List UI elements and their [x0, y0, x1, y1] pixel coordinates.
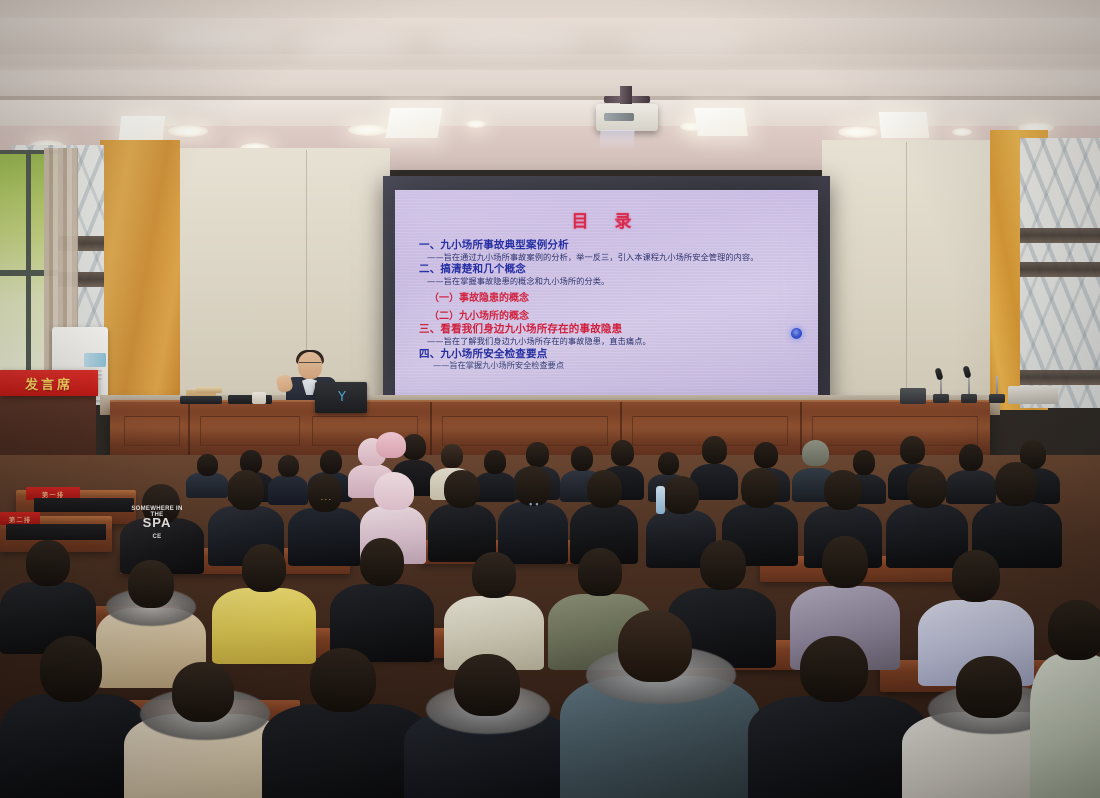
- slide-heading-1: 一、九小场所事故典型案例分析: [419, 240, 800, 252]
- audience-head: [454, 654, 520, 716]
- slide-heading-2: 二、搞清楚和几个概念: [419, 264, 800, 276]
- audience-member: [212, 544, 316, 662]
- audience-head: [472, 552, 516, 598]
- audience-head: [822, 536, 868, 588]
- downlight: [838, 126, 878, 138]
- audience-member: [428, 470, 496, 560]
- panel-light: [119, 116, 166, 140]
- marble-band: [1020, 228, 1100, 243]
- audience-member: [330, 538, 434, 660]
- row-sign-label: 第二排: [9, 514, 32, 524]
- desk-equipment: [1008, 386, 1058, 404]
- slide-title: 目 录: [413, 207, 800, 232]
- table-panel: [124, 416, 180, 446]
- table-seam: [188, 402, 190, 458]
- cursor-dot-icon: [791, 328, 802, 339]
- audience-head: [611, 440, 634, 466]
- audience-head: [907, 466, 947, 508]
- projector-icon: [596, 104, 658, 131]
- jacket-print-line3: CE: [128, 534, 186, 540]
- slide-paragraph-2: （二）九小场所的概念: [429, 307, 800, 322]
- audience-head: [754, 442, 778, 468]
- audience-member: [444, 552, 544, 668]
- marble-band: [1020, 370, 1100, 385]
- cap: [802, 440, 829, 466]
- ceiling-glare: [430, 30, 580, 56]
- downlight: [466, 120, 486, 128]
- projection-screen: 目 录 一、九小场所事故典型案例分析 ——旨在通过九小场所事故案例的分析，举一反…: [395, 190, 818, 395]
- ceiling-band-mid: [0, 70, 1100, 98]
- slide-subtext-3: ——旨在了解我们身边九小场所存在的事故隐患，直击痛点。: [427, 337, 800, 346]
- air-conditioner-display: [84, 353, 106, 367]
- audience-head: [658, 452, 679, 475]
- ceiling-glare: [290, 34, 410, 58]
- audience-head: [320, 450, 342, 474]
- jacket-print-decor: . . .: [298, 496, 354, 502]
- audience-head: [128, 560, 174, 608]
- audience-head: [700, 540, 746, 590]
- laptop-logo: Y: [336, 392, 348, 404]
- audience-head: [741, 468, 779, 508]
- audience-head: [444, 470, 480, 508]
- glasses-icon: [299, 362, 321, 367]
- slide-heading-3: 三、看看我们身边九小场所存在的事故隐患: [419, 324, 800, 336]
- audience-head: [995, 462, 1037, 506]
- wall-panel-seam: [906, 142, 907, 398]
- ceiling-soffit: [0, 100, 1100, 126]
- panel-light: [385, 108, 442, 138]
- audience-head: [702, 436, 727, 464]
- audience-head: [618, 610, 692, 682]
- audience-head: [172, 662, 234, 722]
- audience-member: [404, 654, 574, 798]
- microphone-base: [933, 394, 949, 403]
- ceiling-glare: [155, 28, 285, 54]
- slide-paragraph-1: （一）事故隐患的概念: [429, 289, 800, 304]
- panel-light: [694, 108, 748, 136]
- microphone-base: [961, 394, 977, 403]
- microphone-base: [989, 394, 1005, 403]
- downlight: [348, 124, 388, 136]
- desk-object: [252, 392, 266, 404]
- slide-heading-4: 四、九小场所安全检查要点: [419, 349, 800, 361]
- podium-banner-label: 发言席: [25, 374, 73, 393]
- desk-equipment: [900, 388, 926, 404]
- audience-head: [242, 544, 286, 592]
- audience-member: [0, 540, 96, 650]
- audience-head: [308, 474, 342, 512]
- bench-cushion: [34, 498, 134, 512]
- lecture-hall-photo: 目 录 一、九小场所事故典型案例分析 ——旨在通过九小场所事故案例的分析，举一反…: [0, 0, 1100, 798]
- audience-head: [40, 636, 102, 702]
- jacket-print-line2: SPA: [128, 516, 186, 530]
- podium-banner: 发言席: [0, 370, 98, 396]
- audience-member: [560, 610, 760, 798]
- audience-head: [952, 550, 1000, 602]
- window-mullion: [26, 150, 31, 400]
- audience-head: [228, 470, 264, 510]
- audience-head: [26, 540, 70, 586]
- audience-head: [310, 648, 376, 712]
- presentation-slide: 目 录 一、九小场所事故典型案例分析 ——旨在通过九小场所事故案例的分析，举一反…: [401, 195, 812, 390]
- slide-subtext-4: ——旨在掌握九小场所安全检查要点: [433, 361, 800, 370]
- desk-monitor: [180, 396, 222, 404]
- table-panel: [200, 416, 300, 446]
- audience-head: [663, 476, 699, 514]
- marble-band: [1020, 262, 1100, 277]
- audience-head: [441, 444, 463, 468]
- slide-subtext-1: ——旨在通过九小场所事故案例的分析，举一反三，引入本课程九小场所安全管理的内容。: [427, 253, 800, 262]
- audience-body: [1030, 654, 1100, 798]
- audience-head: [800, 636, 868, 702]
- projector-beam: [599, 130, 634, 150]
- desk-object: [196, 387, 222, 393]
- beanie-hat: [374, 472, 414, 510]
- audience-member: [372, 432, 410, 462]
- downlight: [168, 125, 208, 137]
- jacket-print-decor: • •: [508, 500, 560, 509]
- row-sign-label: 第一排: [42, 489, 65, 499]
- audience-head: [571, 446, 593, 471]
- audience-body: [748, 696, 928, 798]
- wall-panel-right: [822, 140, 994, 402]
- audience-head: [587, 470, 622, 508]
- audience-head: [956, 656, 1022, 718]
- audience-head: [360, 538, 404, 586]
- panel-light: [879, 112, 930, 138]
- bench-cushion: [6, 524, 106, 540]
- audience-member: [1030, 600, 1100, 798]
- audience-head: [900, 436, 925, 464]
- ceiling-glare: [620, 34, 750, 58]
- audience-member: [748, 636, 928, 798]
- audience-head: [1048, 600, 1100, 660]
- audience-head: [578, 548, 622, 596]
- slide-subtext-2: ——旨在掌握事故隐患的概念和九小场所的分类。: [427, 277, 800, 286]
- audience-head: [526, 442, 549, 467]
- water-bottle: [656, 486, 665, 514]
- downlight: [952, 128, 972, 136]
- pink-cap: [376, 432, 406, 458]
- audience-head: [824, 470, 862, 510]
- wood-accent-left: [100, 140, 180, 400]
